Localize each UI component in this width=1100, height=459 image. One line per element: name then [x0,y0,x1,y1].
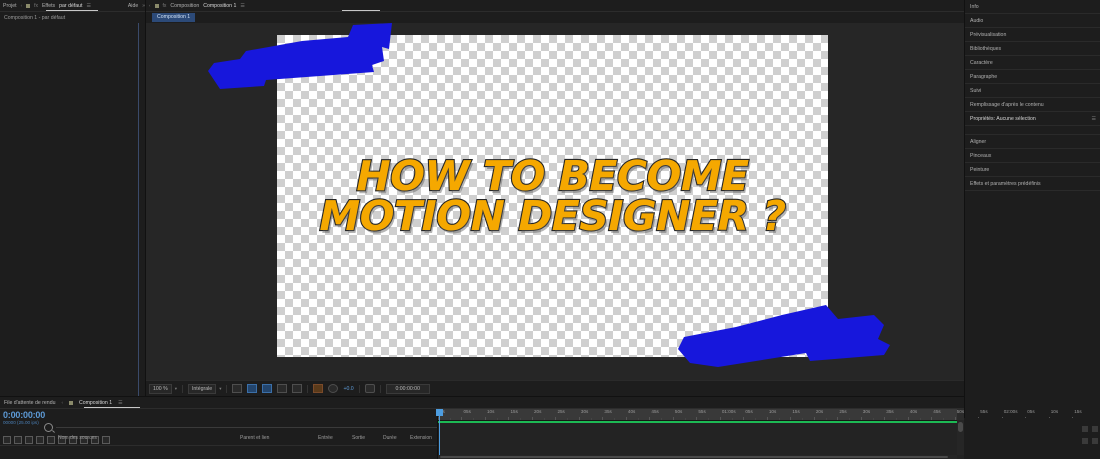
panel-menu-icon[interactable]: ☰ [87,3,91,9]
ruler-minor-tick [661,418,662,420]
tab-composition-1-label: Composition 1 [203,3,236,9]
exposure-value[interactable]: +0.0 [343,386,353,392]
column-header-nom-des-sources[interactable]: Nom des sources [58,435,97,441]
zoom-select[interactable]: 100 % ▾ [149,384,177,394]
dock-item-paragraphe[interactable]: Paragraphe [965,70,1100,84]
composition-icon-timeline [69,401,73,405]
dock-item-caractere[interactable]: Caractère [965,56,1100,70]
ruler-minor-tick [450,418,451,420]
ruler-tick-label: 05s [745,409,752,414]
dock-item-bibliotheques-label: Bibliothèques [970,46,1001,52]
composition-icon [26,4,30,8]
dock-item-pinceaux[interactable]: Pinceaux [965,149,1100,163]
dock-item-bibliotheques[interactable]: Bibliothèques [965,42,1100,56]
region-of-interest-icon[interactable] [232,384,242,393]
after-effects-window: Projet ‹ fx Effets par défaut ☰ Aide » C… [0,0,1100,458]
fx-icon-comp: fx [163,3,167,9]
ruler-tick-mark [696,417,697,420]
ruler-tick-label: 15s [1074,409,1081,414]
ruler-tick-label: 40s [628,409,635,414]
ruler-minor-tick [920,418,921,420]
ruler-tick-mark [649,417,650,420]
ruler-minor-tick [708,418,709,420]
ruler-tick-label: 55s [980,409,987,414]
panel-divider [138,23,139,396]
ruler-tick-mark [931,417,932,420]
tab-par-defaut-label: par défaut [59,3,82,9]
ruler-tick-mark [790,417,791,420]
ruler-minor-tick [614,418,615,420]
snapshot-compare-icon[interactable] [292,384,302,393]
dock-item-info[interactable]: Info [965,0,1100,14]
ruler-tick-label: 35s [886,409,893,414]
toolbar-sep-5 [380,385,381,393]
lock-switch-icon[interactable] [36,436,44,444]
timeline-active-tab-underline [84,407,140,408]
composition-tabbar: ‹ fx Composition Composition 1 ☰ [146,0,964,12]
ruler-tick-label: 15s [510,409,517,414]
tab-composition-1[interactable]: Composition 1 [203,3,236,9]
toolbar-sep-4 [359,385,360,393]
ruler-minor-tick [896,418,897,420]
ruler-tick-label: 10s [769,409,776,414]
ruler-minor-tick [520,418,521,420]
channels-icon[interactable] [313,384,323,393]
timeline-extra-button-4[interactable] [1092,438,1098,444]
tab-file-attente-rendu[interactable]: File d'attente de rendu [4,400,55,406]
dock-item-peinture-label: Peinture [970,167,989,173]
ruler-tick-mark [884,417,885,420]
canvas-headline-line2: MOTION DESIGNER ? [277,196,828,236]
brush-stroke-bottom-right[interactable] [678,305,890,371]
ruler-minor-tick [638,418,639,420]
timeline-tabbar: File d'attente de rendu ‹ Composition 1 … [0,397,964,409]
ruler-minor-tick [685,418,686,420]
dock-item-previsualisation-label: Prévisualisation [970,32,1006,38]
ruler-tick-label: 10s [1051,409,1058,414]
column-header-sortie[interactable]: Sortie [352,435,365,441]
timeline-layer-list[interactable] [0,446,437,455]
timeline-extra-button-2[interactable] [1092,426,1098,432]
composition-stage[interactable]: HOW TO BECOME MOTION DESIGNER ? [146,23,964,381]
dock-item-pinceaux-label: Pinceaux [970,153,991,159]
camera-icon[interactable] [365,384,375,393]
tab-projet[interactable]: Projet [3,3,17,9]
dock-item-remplissage-label: Remplissage d'après le contenu [970,102,1044,108]
column-header-extension[interactable]: Extension [410,435,432,441]
mask-paths-icon[interactable] [277,384,287,393]
ruler-tick-label: 25s [839,409,846,414]
project-list-area[interactable] [0,23,145,396]
ruler-tick-mark [908,417,909,420]
composition-panel-menu-icon[interactable]: ☰ [240,3,244,9]
chevron-down-icon-resolution: ▾ [219,386,221,392]
current-time-indicator[interactable] [439,409,440,459]
dock-item-previsualisation[interactable]: Prévisualisation [965,28,1100,42]
ruler-tick-mark [461,417,462,420]
shy-switch-icon[interactable] [47,436,55,444]
audio-switch-icon[interactable] [14,436,22,444]
dock-item-peinture[interactable]: Peinture [965,163,1100,177]
dock-item-audio[interactable]: Audio [965,14,1100,28]
dock-item-caractere-label: Caractère [970,60,993,66]
composition-active-tab-underline [342,10,380,11]
timeline-vertical-scroll-thumb[interactable] [958,422,963,432]
ruler-tick-label: 50s [957,409,964,414]
ruler-minor-tick [732,418,733,420]
ruler-minor-tick [849,418,850,420]
tab-effets-label: Effets [42,3,55,9]
timeline-extra-button-1[interactable] [1082,426,1088,432]
ruler-tick-label: 50s [675,409,682,414]
ruler-tick-label: 02:00s [1004,409,1018,414]
video-switch-icon[interactable] [3,436,11,444]
ruler-tick-mark [767,417,768,420]
timeline-panel-menu-icon[interactable]: ☰ [118,400,122,406]
chevron-left-icon-timeline[interactable]: ‹ [61,400,63,405]
timeline-render-bar [438,421,957,423]
composition-timecode[interactable]: 0:00:00:00 [386,384,430,394]
dock-item-aligner[interactable]: Aligner [965,135,1100,149]
tab-timeline-composition-1[interactable]: Composition 1 [79,400,112,406]
ruler-minor-tick [873,418,874,420]
tab-file-attente-rendu-label: File d'attente de rendu [4,400,55,406]
composition-viewer-panel: ‹ fx Composition Composition 1 ☰ Composi… [146,0,964,396]
ruler-tick-mark [626,417,627,420]
ruler-tick-label: 10s [487,409,494,414]
solo-switch-icon[interactable] [25,436,33,444]
dock-item-aligner-label: Aligner [970,139,986,145]
ruler-minor-tick [779,418,780,420]
dock-item-proprietes[interactable]: Propriétés: Aucune sélection ☰ [965,112,1100,126]
column-header-entree[interactable]: Entrée [318,435,333,441]
ruler-tick-label: 15s [792,409,799,414]
column-header-duree[interactable]: Durée [383,435,397,441]
overflow-icon[interactable]: » [142,3,145,9]
zoom-value: 100 % [149,384,172,394]
ruler-minor-tick [943,418,944,420]
dock-item-remplissage[interactable]: Remplissage d'après le contenu [965,98,1100,112]
ruler-tick-mark [555,417,556,420]
canvas-headline-line1: HOW TO BECOME [277,156,828,196]
dock-item-effets-parametres[interactable]: Effets et paramètres prédéfinis [965,177,1100,191]
composition-icon-small [155,4,159,8]
dock-item-info-label: Info [970,4,979,10]
search-input[interactable] [56,427,441,428]
ruler-tick-label: 20s [816,409,823,414]
search-icon[interactable] [44,423,53,432]
ruler-tick-label: 45s [651,409,658,414]
ruler-tick-label: 20s [534,409,541,414]
timeline-ruler[interactable]: 0s05s10s15s20s25s30s35s40s45s50s55s01:00… [438,409,964,421]
transparency-grid-icon[interactable] [247,384,257,393]
composition-name-chip[interactable]: Composition 1 [152,13,195,22]
column-header-parent-et-lien[interactable]: Parent et lien [240,435,269,441]
chevron-left-icon-comp[interactable]: ‹ [149,3,151,8]
timeline-extra-button-3[interactable] [1082,438,1088,444]
timeline-horizontal-scrollbar[interactable] [438,455,957,459]
composition-toolbar: 100 % ▾ Intégrale ▾ +0.0 0:00:00:00 [146,380,964,396]
ruler-tick-mark [673,417,674,420]
dock-item-paragraphe-label: Paragraphe [970,74,997,80]
menu-aide[interactable]: Aide [128,3,138,9]
tab-par-defaut[interactable]: par défaut [59,3,82,9]
canvas-text-block: HOW TO BECOME MOTION DESIGNER ? [277,156,828,236]
timeline-header: 0:00:00:00 00000 (25.00 ips) Nom des sou… [0,409,437,455]
ruler-tick-label: 30s [581,409,588,414]
ruler-minor-tick [544,418,545,420]
motionblur-switch-icon[interactable] [102,436,110,444]
dock-item-suivi-label: Suivi [970,88,981,94]
ruler-tick-label: 05s [463,409,470,414]
fx-icon: fx [34,3,38,9]
ruler-tick-mark [720,417,721,420]
ruler-tick-mark [955,417,956,420]
timeline-vertical-scrollbar[interactable] [957,420,964,455]
ruler-tick-label: 05s [1027,409,1034,414]
chevron-down-icon-zoom: ▾ [175,386,177,392]
ruler-tick-label: 35s [604,409,611,414]
dock-item-effets-parametres-label: Effets et paramètres prédéfinis [970,181,1041,187]
timeline-panel: File d'attente de rendu ‹ Composition 1 … [0,396,964,459]
tab-timeline-composition-1-label: Composition 1 [79,400,112,406]
ruler-minor-tick [497,418,498,420]
resolution-value: Intégrale [188,384,216,394]
current-time-indicator-head[interactable] [436,409,443,416]
active-tab-underline [46,10,98,11]
ruler-minor-tick [802,418,803,420]
title-action-safe-icon[interactable] [262,384,272,393]
timeline-current-timecode[interactable]: 0:00:00:00 [0,409,437,420]
dock-spacer [965,126,1100,135]
ruler-tick-mark [508,417,509,420]
right-dock-bottom-buttons [964,418,1100,458]
right-dock-panel: Info Audio Prévisualisation Bibliothèque… [964,0,1100,458]
dock-item-audio-label: Audio [970,18,983,24]
ruler-minor-tick [826,418,827,420]
ruler-tick-mark [602,417,603,420]
ruler-minor-tick [567,418,568,420]
left-panel-subtitle-label: Composition 1 - par défaut [4,15,65,21]
tab-composition-label: Composition [170,3,199,9]
dock-item-proprietes-label: Propriétés: Aucune sélection [970,116,1036,122]
tab-composition[interactable]: Composition [170,3,199,9]
toolbar-sep-1 [182,385,183,393]
ruler-tick-label: 45s [933,409,940,414]
menu-aide-label: Aide [128,3,138,9]
tab-effets[interactable]: Effets [42,3,55,9]
tab-projet-label: Projet [3,3,17,9]
timeline-track-area[interactable]: 0s05s10s15s20s25s30s35s40s45s50s55s01:00… [437,409,964,459]
ruler-tick-mark [814,417,815,420]
toolbar-sep-3 [307,385,308,393]
ruler-minor-tick [591,418,592,420]
ruler-tick-label: 01:00s [722,409,736,414]
ruler-tick-label: 40s [910,409,917,414]
project-effects-panel: Projet ‹ fx Effets par défaut ☰ Aide » C… [0,0,146,396]
ruler-minor-tick [473,418,474,420]
ruler-tick-label: 30s [863,409,870,414]
ruler-tick-mark [532,417,533,420]
dock-item-suivi[interactable]: Suivi [965,84,1100,98]
timeline-search-row[interactable] [44,423,441,432]
ruler-tick-mark [837,417,838,420]
ruler-minor-tick [755,418,756,420]
chevron-left-icon[interactable]: ‹ [21,3,23,8]
brush-stroke-top-left[interactable] [206,23,396,91]
proprietes-panel-menu-icon[interactable]: ☰ [1092,116,1096,122]
ruler-tick-mark [579,417,580,420]
ruler-tick-label: 25s [557,409,564,414]
ruler-tick-mark [743,417,744,420]
ruler-tick-mark [485,417,486,420]
ruler-tick-mark [861,417,862,420]
ruler-tick-label: 55s [698,409,705,414]
color-management-icon[interactable] [328,384,338,393]
resolution-select[interactable]: Intégrale ▾ [188,384,221,394]
toolbar-sep-2 [226,385,227,393]
